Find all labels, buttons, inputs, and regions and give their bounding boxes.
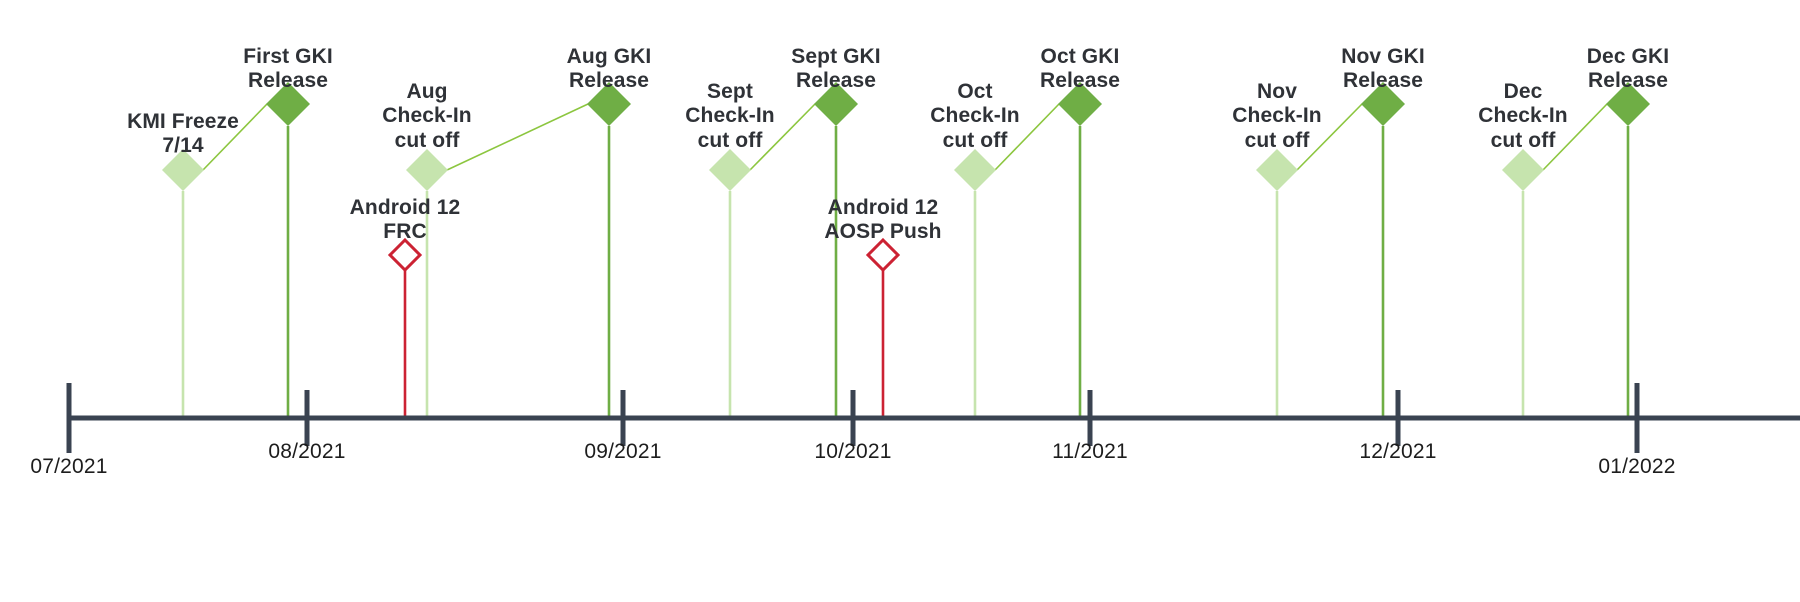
- milestone-label-nov-gki-release: Nov GKI Release: [1341, 45, 1425, 94]
- milestone-label-dec-check-in-cut-off: Dec Check-In cut off: [1478, 80, 1568, 153]
- axis-tick-label-11-2021: 11/2021: [1052, 440, 1128, 464]
- axis-tick-label-09-2021: 09/2021: [584, 440, 661, 464]
- milestone-label-sept-check-in-cut-off: Sept Check-In cut off: [685, 80, 775, 153]
- milestone-label-dec-gki-release: Dec GKI Release: [1587, 45, 1669, 94]
- milestone-label-oct-check-in-cut-off: Oct Check-In cut off: [930, 80, 1020, 153]
- milestone-label-aug-gki-release: Aug GKI Release: [567, 45, 652, 94]
- diamond-nov-check-in-cut-off: [1256, 149, 1298, 191]
- milestone-stems-group: [183, 126, 1628, 418]
- milestone-label-aug-check-in-cut-off: Aug Check-In cut off: [382, 80, 472, 153]
- diamond-sept-check-in-cut-off: [709, 149, 751, 191]
- milestone-label-kmi-freeze-7-14: KMI Freeze 7/14: [127, 110, 239, 159]
- axis-tick-label-12-2021: 12/2021: [1359, 440, 1436, 464]
- milestone-label-first-gki-release: First GKI Release: [243, 45, 333, 94]
- milestone-label-oct-gki-release: Oct GKI Release: [1040, 45, 1120, 94]
- milestone-label-android-12-aosp-push: Android 12 AOSP Push: [824, 196, 941, 245]
- diamond-aug-check-in-cut-off: [406, 149, 448, 191]
- axis-tick-label-07-2021: 07/2021: [30, 455, 107, 479]
- milestone-label-nov-check-in-cut-off: Nov Check-In cut off: [1232, 80, 1322, 153]
- milestone-label-android-12-frc: Android 12 FRC: [350, 196, 461, 245]
- diamond-oct-check-in-cut-off: [954, 149, 996, 191]
- axis-tick-label-10-2021: 10/2021: [814, 440, 891, 464]
- diamond-dec-check-in-cut-off: [1502, 149, 1544, 191]
- milestone-label-sept-gki-release: Sept GKI Release: [791, 45, 880, 94]
- axis-tick-label-08-2021: 08/2021: [268, 440, 345, 464]
- axis-tick-label-01-2022: 01/2022: [1598, 455, 1675, 479]
- timeline-diagram: KMI Freeze 7/14First GKI ReleaseAug Chec…: [0, 0, 1800, 602]
